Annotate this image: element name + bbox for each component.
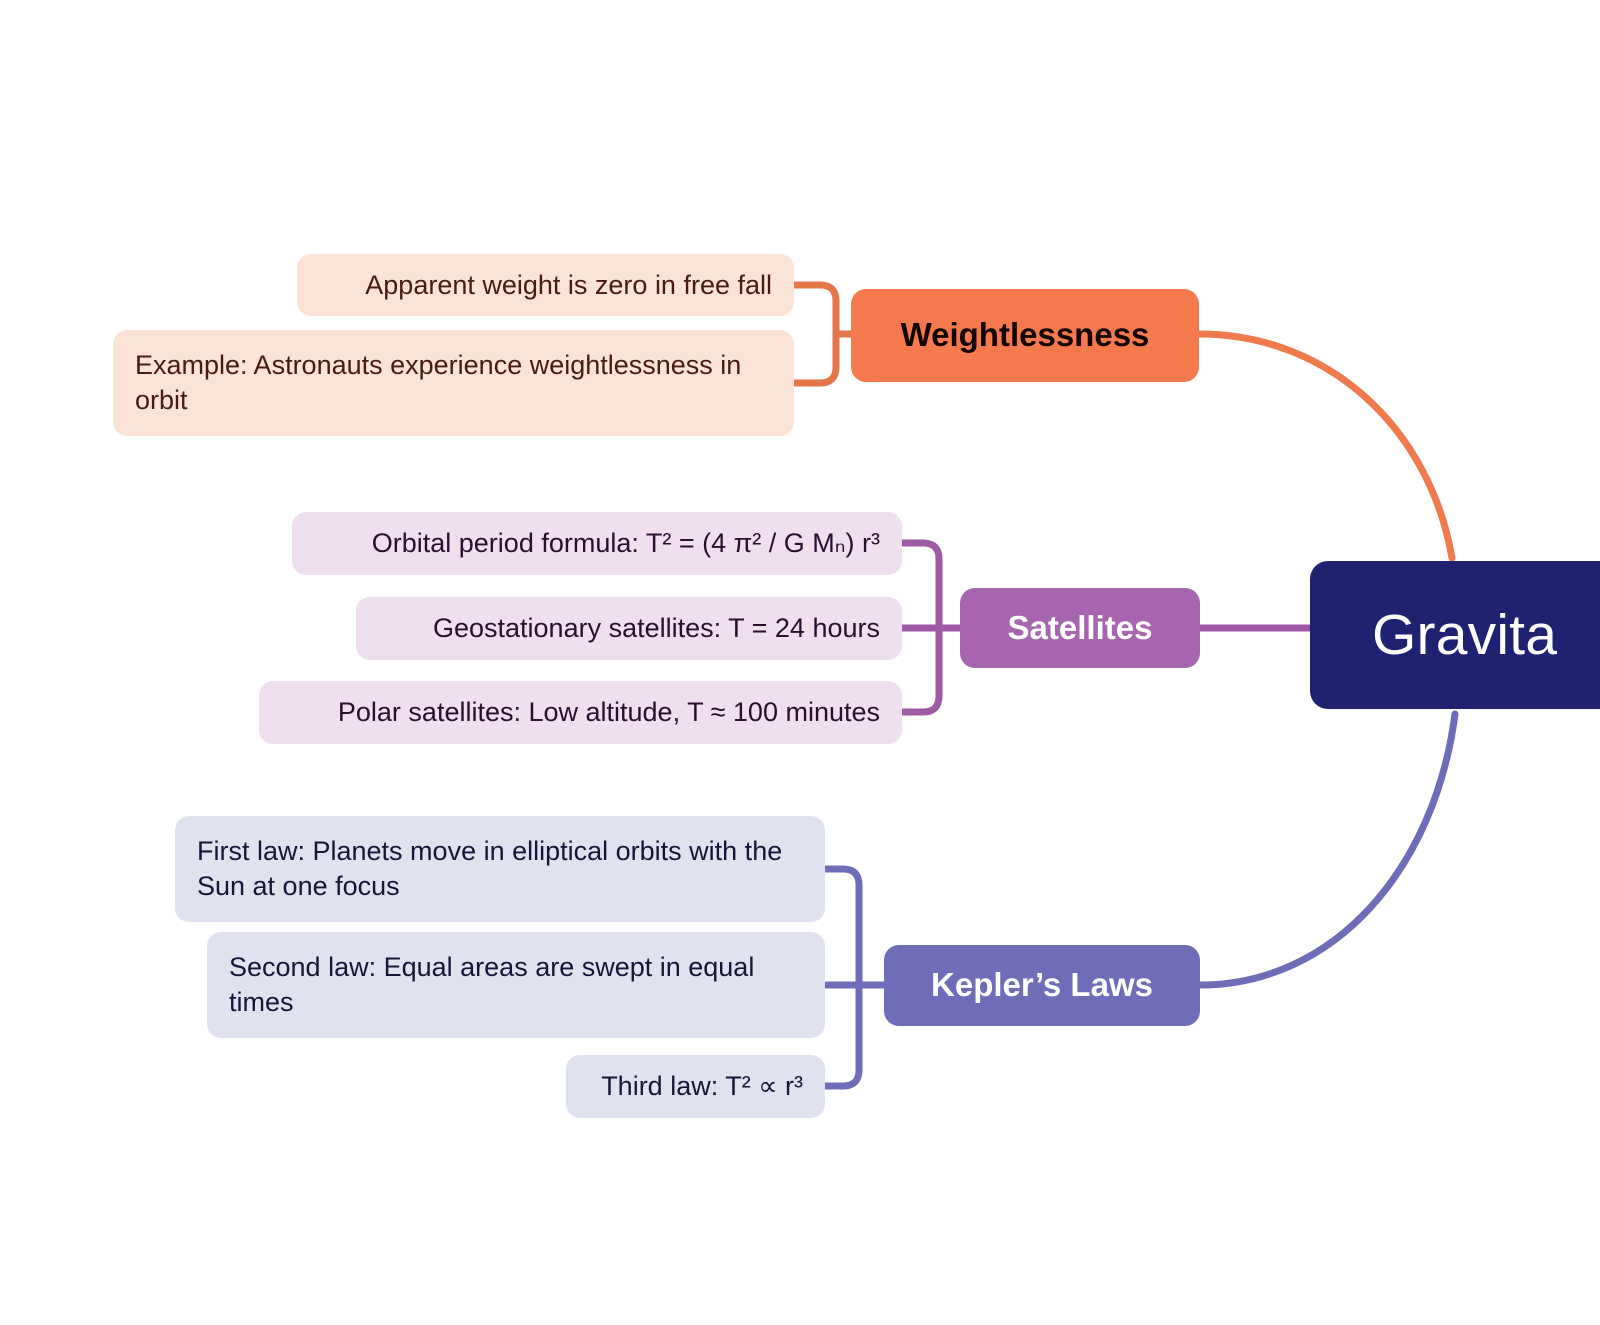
leaf-node-label: Apparent weight is zero in free fall <box>319 268 772 303</box>
leaf-node-label: Second law: Equal areas are swept in equ… <box>229 950 803 1019</box>
root-node-gravitation[interactable]: Gravita <box>1310 561 1600 709</box>
leaf-node-label: Geostationary satellites: T = 24 hours <box>378 611 880 646</box>
leaf-node-label: First law: Planets move in elliptical or… <box>197 834 803 903</box>
root-node-label: Gravita <box>1372 599 1557 672</box>
leaf-node-label: Third law: T² ∝ r³ <box>588 1069 803 1104</box>
topic-node-label: Satellites <box>1008 607 1153 649</box>
leaf-node-satellites-3[interactable]: Polar satellites: Low altitude, T ≈ 100 … <box>259 681 902 744</box>
leaf-node-label: Example: Astronauts experience weightles… <box>135 348 772 417</box>
mindmap-canvas: Gravita Weightlessness Apparent weight i… <box>0 0 1600 1325</box>
topic-node-satellites[interactable]: Satellites <box>960 588 1200 668</box>
leaf-node-label: Polar satellites: Low altitude, T ≈ 100 … <box>281 695 880 730</box>
leaf-node-kepler-2[interactable]: Second law: Equal areas are swept in equ… <box>207 932 825 1038</box>
leaf-node-satellites-2[interactable]: Geostationary satellites: T = 24 hours <box>356 597 902 660</box>
leaf-node-kepler-3[interactable]: Third law: T² ∝ r³ <box>566 1055 825 1118</box>
leaf-node-weightlessness-2[interactable]: Example: Astronauts experience weightles… <box>113 330 794 436</box>
connector-kepler <box>825 714 1455 1086</box>
leaf-node-kepler-1[interactable]: First law: Planets move in elliptical or… <box>175 816 825 922</box>
topic-node-label: Weightlessness <box>901 314 1150 356</box>
leaf-node-satellites-1[interactable]: Orbital period formula: T² = (4 π² / G M… <box>292 512 902 575</box>
topic-node-kepler-laws[interactable]: Kepler’s Laws <box>884 945 1200 1026</box>
leaf-node-weightlessness-1[interactable]: Apparent weight is zero in free fall <box>297 254 794 316</box>
topic-node-label: Kepler’s Laws <box>931 964 1153 1006</box>
topic-node-weightlessness[interactable]: Weightlessness <box>851 289 1199 382</box>
leaf-node-label: Orbital period formula: T² = (4 π² / G M… <box>314 526 880 561</box>
